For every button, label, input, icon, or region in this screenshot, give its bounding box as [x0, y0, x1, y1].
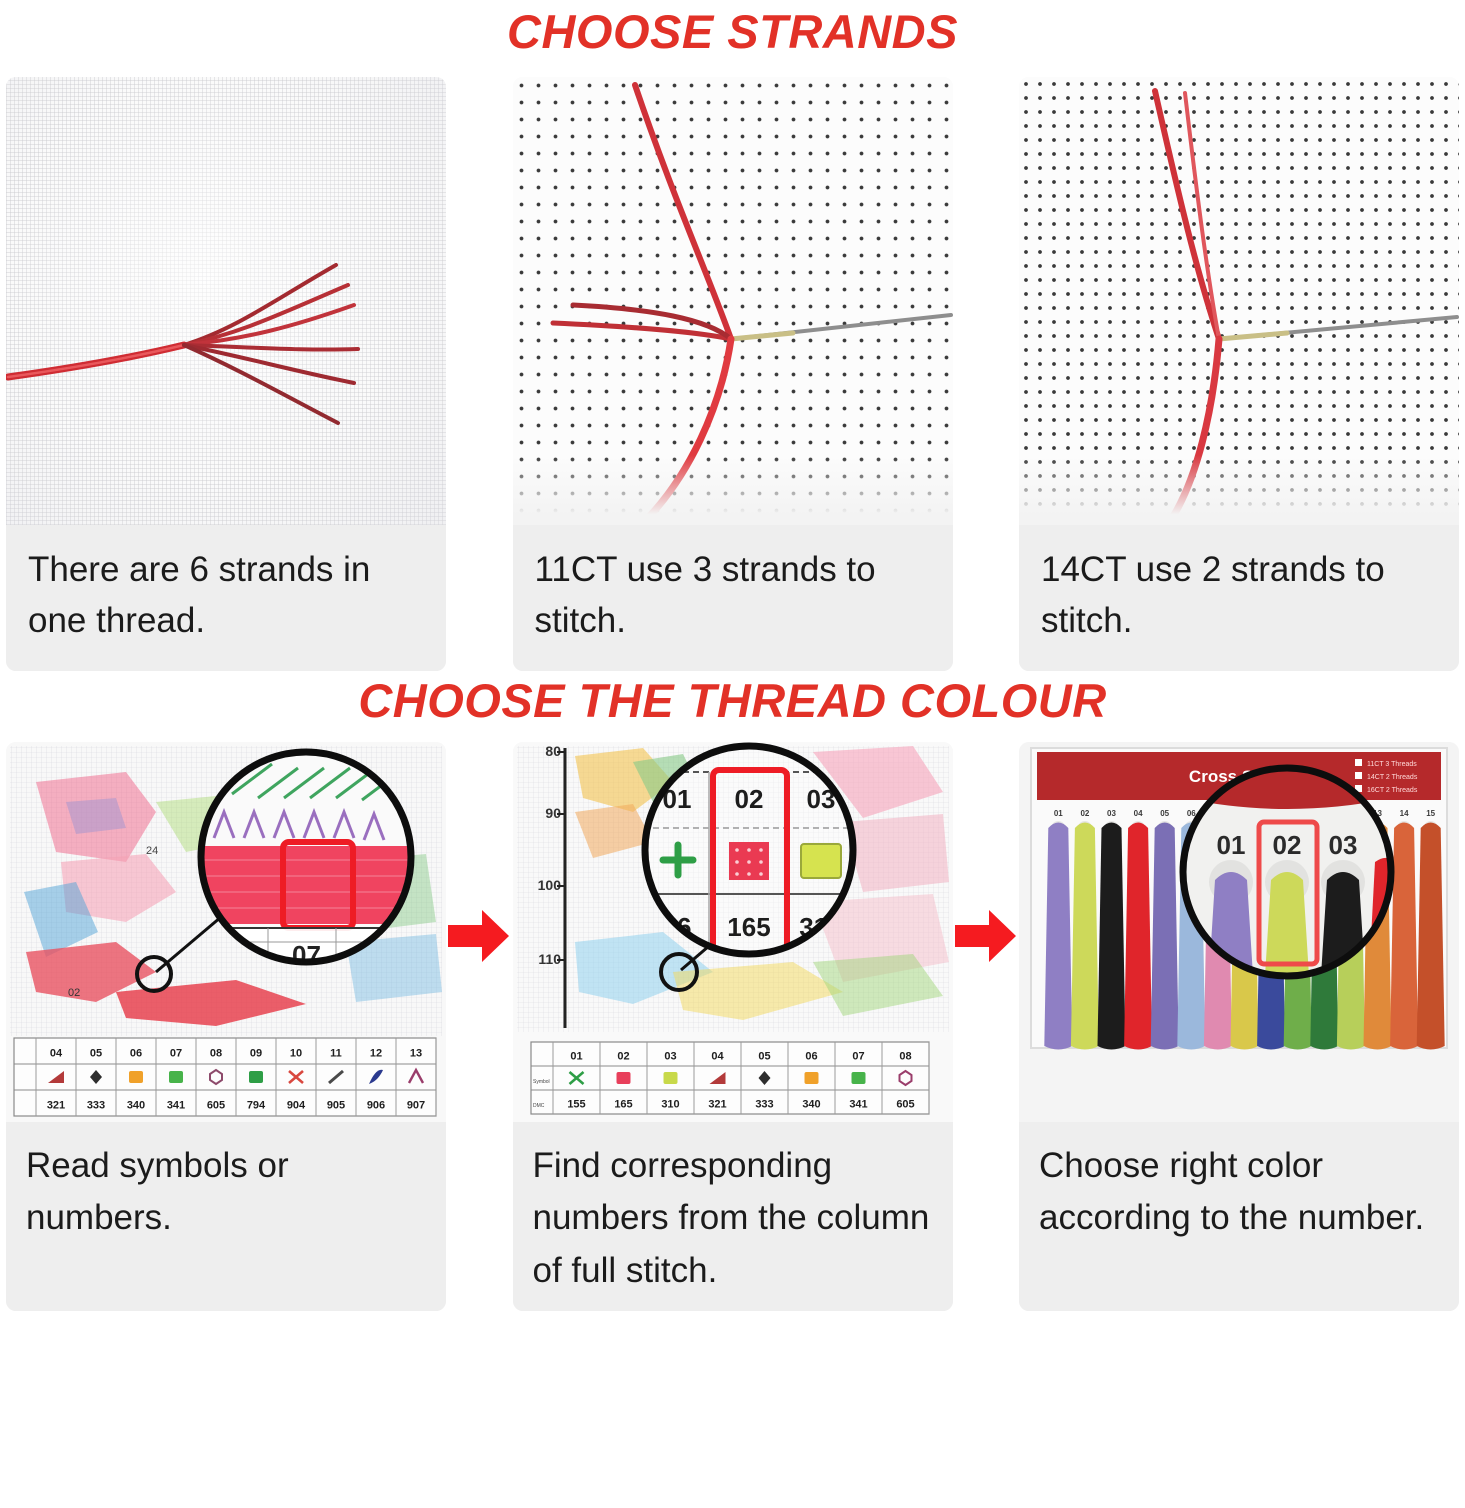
- legend-symbol-square: [129, 1071, 143, 1083]
- legend-dmc-341: 341: [167, 1099, 185, 1111]
- caption-choose-colour: Choose right color according to the numb…: [1019, 1122, 1459, 1312]
- legend-dmc-905: 905: [327, 1099, 345, 1111]
- legend-symbol-square: [169, 1071, 183, 1083]
- six-strands-drawing: [6, 77, 446, 525]
- legend-column-05: 05: [90, 1047, 102, 1059]
- legend-strip: 0432105333063400734108605097941090411905…: [14, 1038, 436, 1116]
- thread-colour-card-row: 24 02: [0, 742, 1465, 1312]
- card-read-symbols: 24 02: [6, 742, 446, 1312]
- legend-dmc-340: 340: [802, 1098, 820, 1110]
- legend-symbol-square: [249, 1071, 263, 1083]
- hole-number-15: 15: [1426, 809, 1435, 818]
- caption-find-numbers: Find corresponding numbers from the colu…: [513, 1122, 953, 1312]
- mag-hole-03: 03: [1329, 830, 1358, 860]
- legend-dmc-321: 321: [708, 1098, 726, 1110]
- legend-symbol-square: [616, 1072, 630, 1084]
- legend-dmc-907: 907: [407, 1099, 425, 1111]
- photo-bottom-fade: [1019, 455, 1459, 525]
- hole-number-05: 05: [1160, 809, 1169, 818]
- thread-skein-14[interactable]: [1390, 822, 1418, 1049]
- 14ct-two-strands-photo: [1019, 77, 1459, 525]
- hole-number-03: 03: [1107, 809, 1116, 818]
- legend-column-04: 04: [50, 1047, 63, 1059]
- thread-skein-02[interactable]: [1071, 822, 1099, 1049]
- symbol-key-legend-table: SymbolDMC0115502165033100432105333063400…: [513, 742, 953, 1122]
- legend-strip: SymbolDMC0115502165033100432105333063400…: [531, 1042, 929, 1114]
- legend-column-01: 01: [570, 1050, 582, 1062]
- legend-column-12: 12: [370, 1047, 382, 1059]
- symbol-key-photo: 80 90 100 110: [513, 742, 953, 1122]
- thread-card-drawing: Cross Stitch 11CT 3 Threads 14CT 2 Threa…: [1019, 742, 1459, 1122]
- card-choose-colour: Cross Stitch 11CT 3 Threads 14CT 2 Threa…: [1019, 742, 1459, 1312]
- legend-row-label-dmc: DMC: [533, 1102, 545, 1108]
- legend-column-02: 02: [617, 1050, 629, 1062]
- legend-column-05: 05: [758, 1050, 770, 1062]
- thread-skein-15[interactable]: [1417, 822, 1445, 1049]
- legend-column-04: 04: [711, 1050, 724, 1062]
- legend-dmc-340: 340: [127, 1099, 145, 1111]
- 11ct-three-strands-photo: [513, 77, 953, 525]
- pattern-chart-photo: 24 02: [6, 742, 446, 1122]
- caption-six-strands: There are 6 strands in one thread.: [6, 525, 446, 671]
- section-title-choose-thread-colour: CHOOSE THE THREAD COLOUR: [0, 677, 1465, 724]
- legend-dmc-165: 165: [614, 1098, 632, 1110]
- legend-column-08: 08: [899, 1050, 911, 1062]
- legend-column-06: 06: [805, 1050, 817, 1062]
- legend-column-03: 03: [664, 1050, 676, 1062]
- legend-dmc-333: 333: [755, 1098, 773, 1110]
- legend-symbol-square: [851, 1072, 865, 1084]
- arrow-slot-2: [953, 742, 1019, 1312]
- card-11ct-three-strands: 11CT use 3 strands to stitch.: [513, 77, 953, 671]
- legend-dmc-906: 906: [367, 1099, 385, 1111]
- legend-column-06: 06: [130, 1047, 142, 1059]
- legend-column-08: 08: [210, 1047, 222, 1059]
- legend-column-10: 10: [290, 1047, 302, 1059]
- card-14ct-two-strands: 14CT use 2 strands to stitch.: [1019, 77, 1459, 671]
- legend-dmc-605: 605: [896, 1098, 914, 1110]
- legend-column-07: 07: [852, 1050, 864, 1062]
- hole-number-14: 14: [1400, 809, 1409, 818]
- legend-symbol-square: [804, 1072, 818, 1084]
- card-find-numbers: 80 90 100 110: [513, 742, 953, 1312]
- legend-dmc-904: 904: [287, 1099, 306, 1111]
- legend-dmc-333: 333: [87, 1099, 105, 1111]
- legend-dmc-155: 155: [567, 1098, 585, 1110]
- legend-dmc-605: 605: [207, 1099, 225, 1111]
- card-six-strands: There are 6 strands in one thread.: [6, 77, 446, 671]
- step-arrow-1-icon: [448, 908, 510, 964]
- hole-number-01: 01: [1054, 809, 1063, 818]
- section-title-choose-strands: CHOOSE STRANDS: [0, 8, 1465, 55]
- legend-dmc-341: 341: [849, 1098, 867, 1110]
- hole-number-04: 04: [1134, 809, 1143, 818]
- photo-bottom-fade: [513, 455, 953, 525]
- thread-skein-04[interactable]: [1124, 822, 1152, 1049]
- legend-column-09: 09: [250, 1047, 262, 1059]
- caption-read-symbols: Read symbols or numbers.: [6, 1122, 446, 1312]
- arrow-slot-1: [446, 742, 512, 1312]
- legend-dmc-794: 794: [247, 1099, 266, 1111]
- mag-hole-02: 02: [1273, 830, 1302, 860]
- legend-column-07: 07: [170, 1047, 182, 1059]
- legend-symbol-square: [663, 1072, 677, 1084]
- legend-column-11: 11: [330, 1047, 342, 1059]
- hole-number-02: 02: [1080, 809, 1089, 818]
- caption-14ct: 14CT use 2 strands to stitch.: [1019, 525, 1459, 671]
- legend-column-13: 13: [410, 1047, 422, 1059]
- svg-text:11CT 3 Threads: 11CT 3 Threads: [1367, 761, 1417, 768]
- caption-11ct: 11CT use 3 strands to stitch.: [513, 525, 953, 671]
- step-arrow-2-icon: [955, 908, 1017, 964]
- six-strands-photo: [6, 77, 446, 525]
- pattern-legend-table: 0432105333063400734108605097941090411905…: [6, 742, 446, 1122]
- thread-card-photo: Cross Stitch 11CT 3 Threads 14CT 2 Threa…: [1019, 742, 1459, 1122]
- strands-card-row: There are 6 strands in one thread. 11CT …: [0, 77, 1465, 671]
- thread-skein-05[interactable]: [1151, 822, 1179, 1049]
- legend-dmc-310: 310: [661, 1098, 679, 1110]
- thread-skein-01[interactable]: [1044, 822, 1072, 1049]
- thread-skein-03[interactable]: [1098, 822, 1126, 1049]
- svg-text:14CT 2 Threads: 14CT 2 Threads: [1367, 774, 1418, 781]
- legend-row-label-symbol: Symbol: [533, 1078, 550, 1084]
- mag-hole-01: 01: [1217, 830, 1246, 860]
- legend-dmc-321: 321: [47, 1099, 65, 1111]
- svg-text:16CT 2 Threads: 16CT 2 Threads: [1367, 787, 1418, 794]
